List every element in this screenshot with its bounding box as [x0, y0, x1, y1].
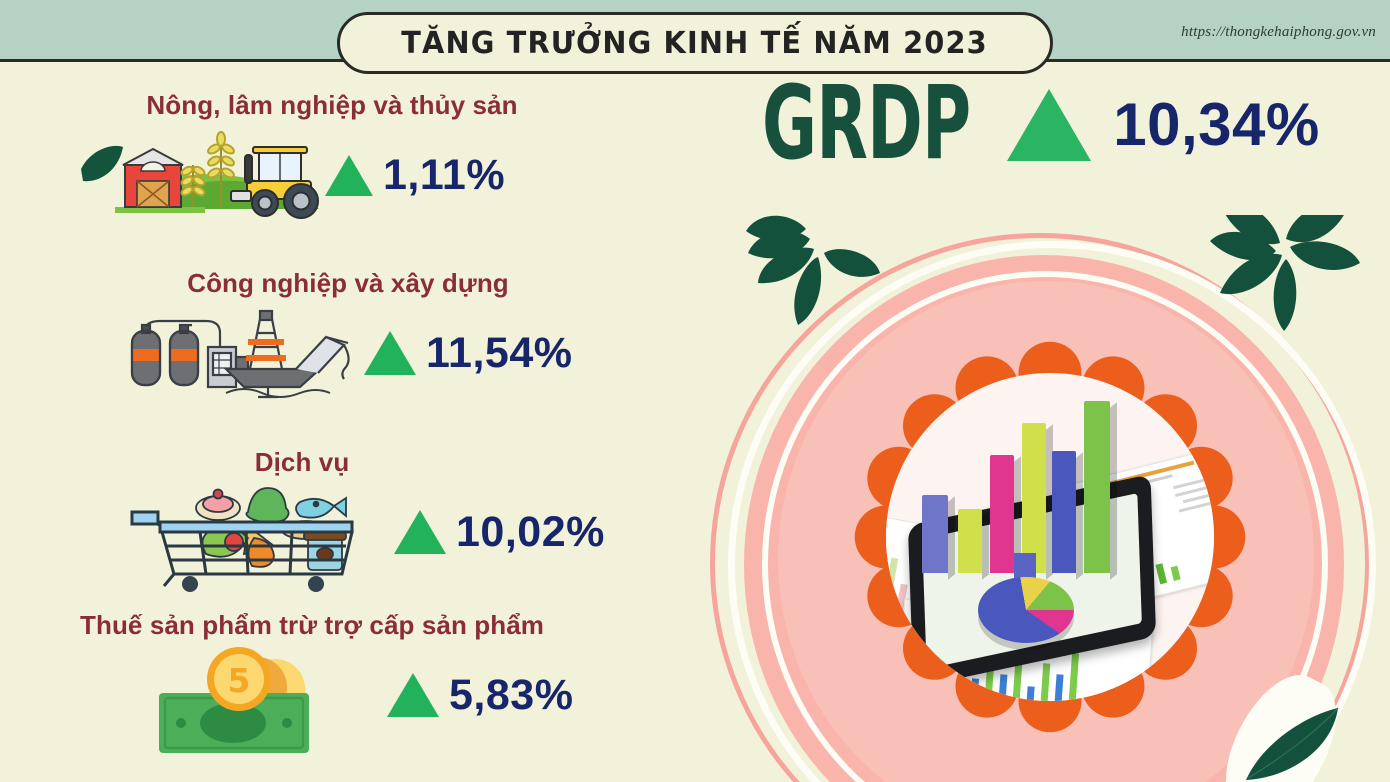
decorative-illustration	[700, 215, 1390, 782]
sector-value-product-tax: 5,83%	[449, 671, 573, 720]
farm-tractor-icon	[75, 125, 325, 225]
leaf-bottom-right-icon	[1234, 698, 1354, 782]
bar-3d-3	[990, 455, 1014, 573]
pie-chart-3d	[978, 577, 1074, 643]
sector-item-industry: Công nghiệp và xây dựng	[0, 268, 700, 403]
trend-up-arrow-services	[394, 510, 446, 554]
site-url: https://thongkehaiphong.gov.vn	[1181, 24, 1376, 41]
page-title: TĂNG TRƯỞNG KINH TẾ NĂM 2023	[402, 26, 989, 61]
sector-item-agriculture: Nông, lâm nghiệp và thủy sản	[0, 90, 700, 225]
sector-label-industry: Công nghiệp và xây dựng	[28, 268, 668, 299]
trend-up-arrow-agriculture	[325, 155, 373, 196]
sector-item-product-tax: Thuế sản phẩm trừ trợ cấp sản phẩm	[0, 610, 700, 745]
bar-3d-5	[1052, 451, 1076, 573]
sector-label-services: Dịch vụ	[0, 447, 622, 478]
sector-value-agriculture: 1,11%	[383, 151, 505, 200]
leaf-cluster-left-icon	[728, 215, 888, 339]
trend-up-arrow-industry	[364, 331, 416, 375]
bar-3d-2	[958, 509, 982, 573]
sector-list: Nông, lâm nghiệp và thủy sản	[0, 62, 700, 782]
page-title-pill: TĂNG TRƯỞNG KINH TẾ NĂM 2023	[337, 12, 1053, 74]
grdp-label: GRDP	[762, 81, 970, 167]
trend-up-arrow-grdp	[1007, 89, 1091, 161]
money-cash-coins-icon: 5	[145, 645, 395, 745]
bar-3d-4	[1022, 423, 1046, 573]
analytics-photo	[886, 373, 1214, 701]
grdp-headline: GRDP 10,34%	[762, 88, 1320, 161]
sector-label-agriculture: Nông, lâm nghiệp và thủy sản	[12, 90, 652, 121]
bar-3d-1	[922, 495, 948, 573]
industry-oilrig-icon	[120, 303, 370, 403]
sector-item-services: Dịch vụ	[0, 447, 700, 582]
sector-value-services: 10,02%	[456, 508, 605, 557]
leaf-cluster-right-icon	[1180, 215, 1370, 345]
shopping-cart-icon	[130, 482, 380, 582]
sector-label-product-tax: Thuế sản phẩm trừ trợ cấp sản phẩm	[0, 610, 632, 641]
grdp-value: 10,34%	[1113, 90, 1320, 159]
bar-3d-6	[1084, 401, 1110, 573]
svg-text:5: 5	[228, 661, 251, 700]
sector-value-industry: 11,54%	[426, 329, 572, 378]
